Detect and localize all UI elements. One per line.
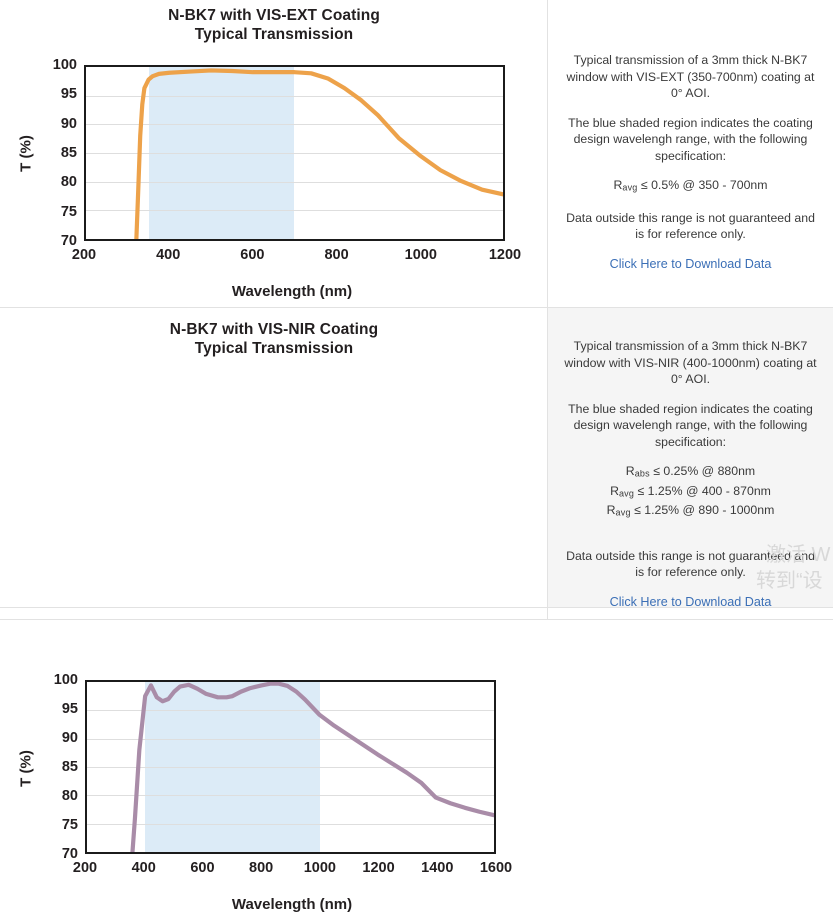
y-axis-title: T (%) <box>18 749 35 789</box>
chart-title-line2: Typical Transmission <box>0 339 548 358</box>
x-tick-1000: 1000 <box>405 247 437 263</box>
x-tick-1400: 1400 <box>421 860 453 876</box>
product-row-vis-nir: N-BK7 with VIS-NIR Coating Typical Trans… <box>0 308 833 608</box>
y-tick-80: 80 <box>62 788 78 804</box>
x-tick-400: 400 <box>132 860 156 876</box>
x-tick-1000: 1000 <box>304 860 336 876</box>
chart-cell-vis-ext: N-BK7 with VIS-EXT Coating Typical Trans… <box>0 0 548 307</box>
chart-title-vis-ext: N-BK7 with VIS-EXT Coating Typical Trans… <box>0 6 548 44</box>
product-row-vis-ext: N-BK7 with VIS-EXT Coating Typical Trans… <box>0 0 833 308</box>
description-text-vis-ext: Typical transmission of a 3mm thick N-BK… <box>562 52 819 285</box>
plot-frame <box>85 680 496 854</box>
download-data-link[interactable]: Click Here to Download Data <box>610 595 772 609</box>
spec-symbol: R <box>610 484 619 498</box>
spec-line-ravg-890-1000: Ravg ≤ 1.25% @ 890 - 1000nm <box>607 503 775 517</box>
y-tick-85: 85 <box>62 759 78 775</box>
download-link-row: Click Here to Download Data <box>562 256 819 273</box>
y-tick-85: 85 <box>61 145 77 161</box>
description-cell-next <box>548 608 833 619</box>
x-axis-title: Wavelength (nm) <box>18 896 566 913</box>
spec-symbol: R <box>607 503 616 517</box>
x-tick-400: 400 <box>156 247 180 263</box>
x-tick-800: 800 <box>324 247 348 263</box>
x-axis-title: Wavelength (nm) <box>18 283 566 300</box>
chart-vis-nir: N-BK7 with VIS-NIR Coating Typical Trans… <box>0 308 548 607</box>
chart-vis-ext: N-BK7 with VIS-EXT Coating Typical Trans… <box>0 0 548 307</box>
x-tick-800: 800 <box>249 860 273 876</box>
spec-subscript: avg <box>616 508 631 518</box>
spec-value: ≤ 1.25% @ 400 - 870nm <box>634 484 771 498</box>
y-tick-95: 95 <box>61 86 77 102</box>
y-tick-100: 100 <box>53 57 77 73</box>
spec-subscript: abs <box>635 469 650 479</box>
plot-area-vis-nir: 100 95 90 85 80 75 70 200 400 600 800 10… <box>85 680 496 854</box>
spec-value: ≤ 0.5% @ 350 - 700nm <box>638 178 768 192</box>
y-tick-80: 80 <box>61 174 77 190</box>
transmission-curve-vis-ext <box>86 67 503 239</box>
desc-paragraph-2: The blue shaded region indicates the coa… <box>562 401 819 451</box>
transmission-curves-page: N-BK7 with VIS-EXT Coating Typical Trans… <box>0 0 833 620</box>
y-tick-95: 95 <box>62 701 78 717</box>
desc-paragraph-3: Data outside this range is not guarantee… <box>562 210 819 243</box>
desc-paragraph-3: Data outside this range is not guarantee… <box>562 548 819 581</box>
spec-line-rabs-880: Rabs ≤ 0.25% @ 880nm <box>626 464 755 478</box>
spec-line-ravg: Ravg ≤ 0.5% @ 350 - 700nm <box>562 177 819 197</box>
description-text-vis-nir: Typical transmission of a 3mm thick N-BK… <box>562 338 819 623</box>
transmission-curve-vis-nir <box>87 682 494 852</box>
x-tick-1200: 1200 <box>489 247 521 263</box>
y-tick-75: 75 <box>62 817 78 833</box>
spec-symbol: R <box>626 464 635 478</box>
plot-frame <box>84 65 505 241</box>
y-tick-90: 90 <box>61 116 77 132</box>
y-tick-75: 75 <box>61 204 77 220</box>
x-tick-200: 200 <box>72 247 96 263</box>
y-tick-100: 100 <box>54 672 78 688</box>
download-data-link[interactable]: Click Here to Download Data <box>610 257 772 271</box>
chart-title-line1: N-BK7 with VIS-EXT Coating <box>0 6 548 25</box>
spec-line-ravg-400-870: Ravg ≤ 1.25% @ 400 - 870nm <box>610 484 771 498</box>
x-tick-200: 200 <box>73 860 97 876</box>
spec-subscript: avg <box>622 183 637 193</box>
spec-list: Rabs ≤ 0.25% @ 880nm Ravg ≤ 1.25% @ 400 … <box>562 463 819 522</box>
chart-cell-vis-nir: N-BK7 with VIS-NIR Coating Typical Trans… <box>0 308 548 607</box>
spec-value: ≤ 0.25% @ 880nm <box>650 464 755 478</box>
desc-paragraph-1: Typical transmission of a 3mm thick N-BK… <box>562 52 819 102</box>
spec-subscript: avg <box>619 488 634 498</box>
chart-cell-next <box>0 608 548 619</box>
product-row-next-partial <box>0 608 833 620</box>
chart-title-line2: Typical Transmission <box>0 25 548 44</box>
x-tick-600: 600 <box>240 247 264 263</box>
x-tick-1200: 1200 <box>362 860 394 876</box>
chart-title-line1: N-BK7 with VIS-NIR Coating <box>0 320 548 339</box>
description-cell-vis-ext: Typical transmission of a 3mm thick N-BK… <box>548 0 833 307</box>
y-tick-90: 90 <box>62 730 78 746</box>
description-cell-vis-nir: Typical transmission of a 3mm thick N-BK… <box>548 308 833 607</box>
desc-paragraph-1: Typical transmission of a 3mm thick N-BK… <box>562 338 819 388</box>
plot-area-vis-ext: 100 95 90 85 80 75 70 200 400 600 800 10… <box>84 65 505 241</box>
desc-paragraph-2: The blue shaded region indicates the coa… <box>562 115 819 165</box>
spec-value: ≤ 1.25% @ 890 - 1000nm <box>631 503 775 517</box>
x-tick-1600: 1600 <box>480 860 512 876</box>
x-tick-600: 600 <box>190 860 214 876</box>
y-axis-title: T (%) <box>18 134 35 174</box>
chart-title-vis-nir: N-BK7 with VIS-NIR Coating Typical Trans… <box>0 320 548 358</box>
